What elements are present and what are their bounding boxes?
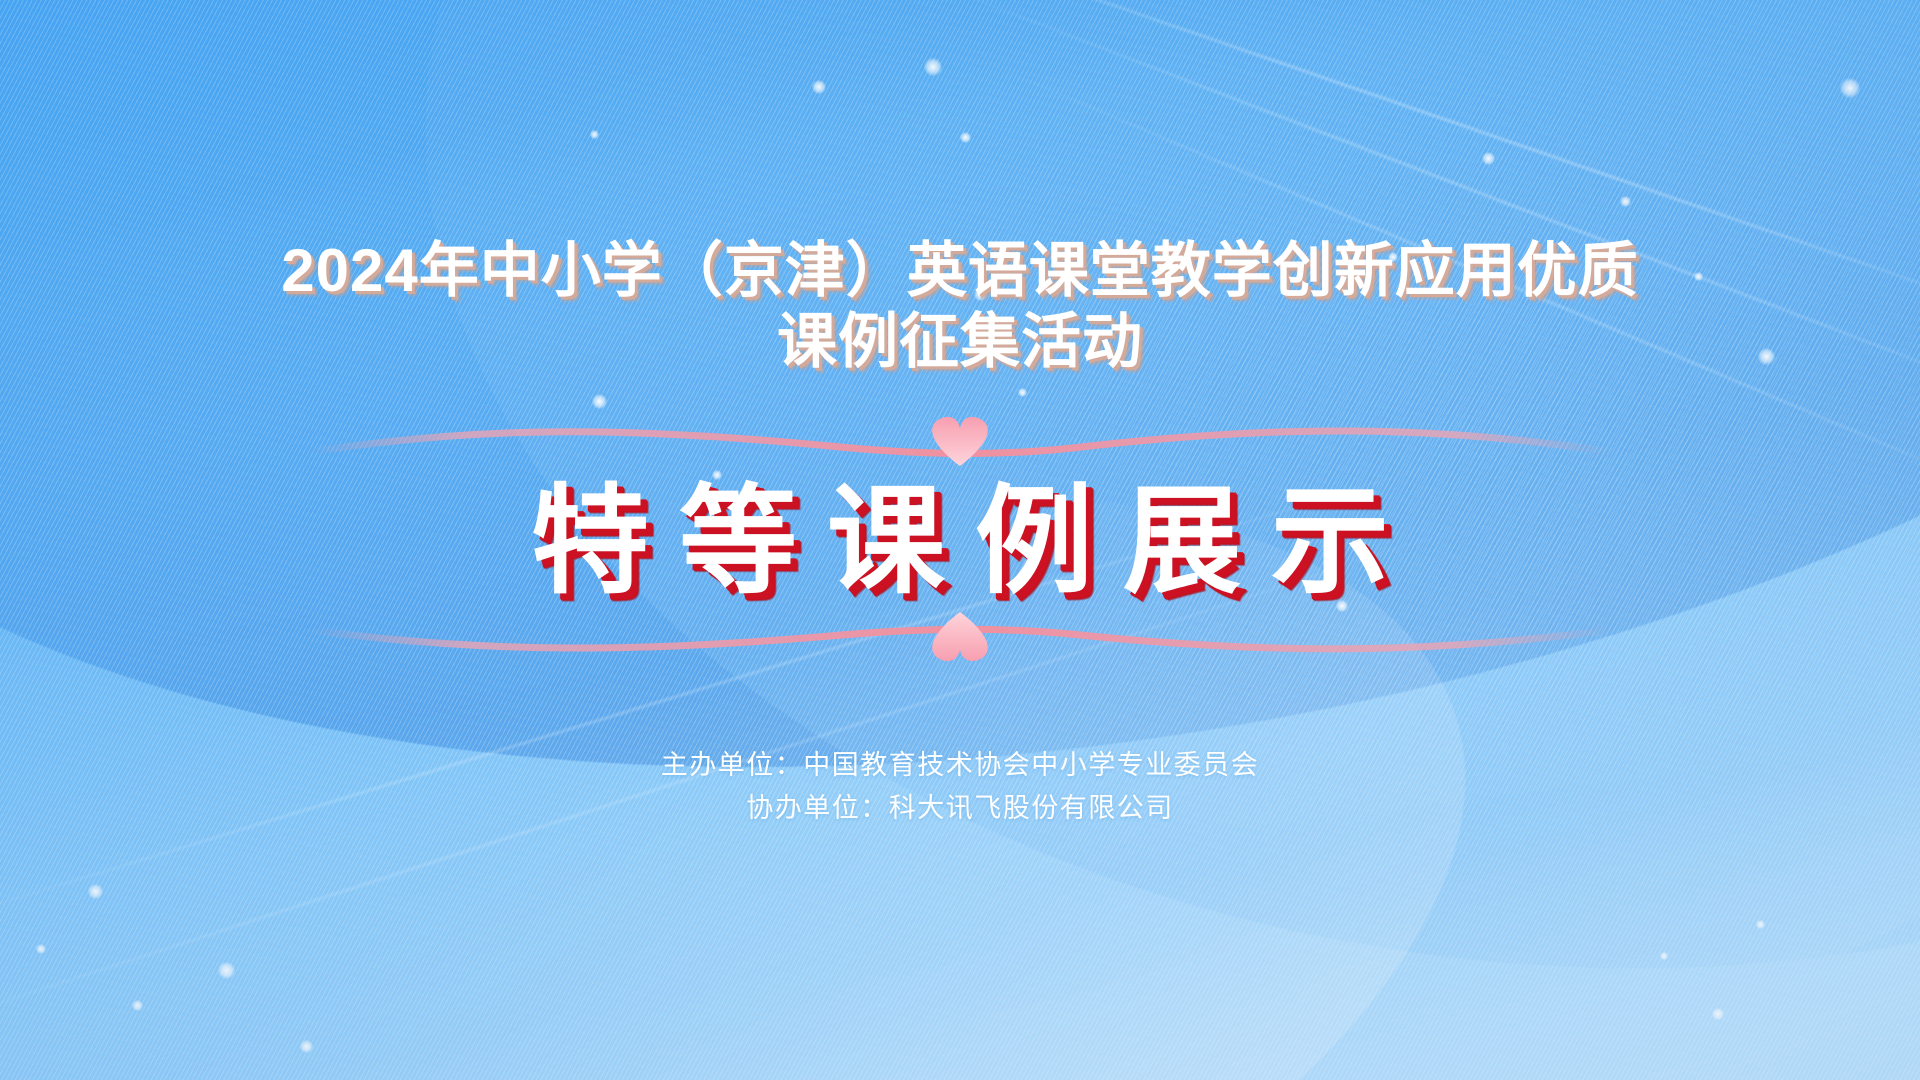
divider-bottom — [310, 608, 1610, 666]
co-organizer-line: 协办单位：科大讯飞股份有限公司 — [661, 787, 1260, 831]
headline-text: 特等课例展示 — [501, 476, 1419, 608]
organizer-info: 主办单位：中国教育技术协会中小学专业委员会 协办单位：科大讯飞股份有限公司 — [661, 744, 1260, 831]
event-title-line-1: 2024年中小学（京津）英语课堂教学创新应用优质 — [281, 236, 1638, 307]
heart-down-icon — [932, 612, 988, 661]
divider-top — [310, 412, 1610, 470]
event-title-line-2: 课例征集活动 — [281, 307, 1638, 378]
divider-bottom-svg — [310, 608, 1610, 666]
slide-content: 2024年中小学（京津）英语课堂教学创新应用优质 课例征集活动 — [0, 0, 1920, 1080]
presentation-slide: 2024年中小学（京津）英语课堂教学创新应用优质 课例征集活动 — [0, 0, 1920, 1080]
organizer-line: 主办单位：中国教育技术协会中小学专业委员会 — [661, 744, 1260, 788]
divider-top-svg — [310, 412, 1610, 470]
heart-up-icon — [932, 417, 988, 466]
event-title: 2024年中小学（京津）英语课堂教学创新应用优质 课例征集活动 — [281, 236, 1638, 378]
